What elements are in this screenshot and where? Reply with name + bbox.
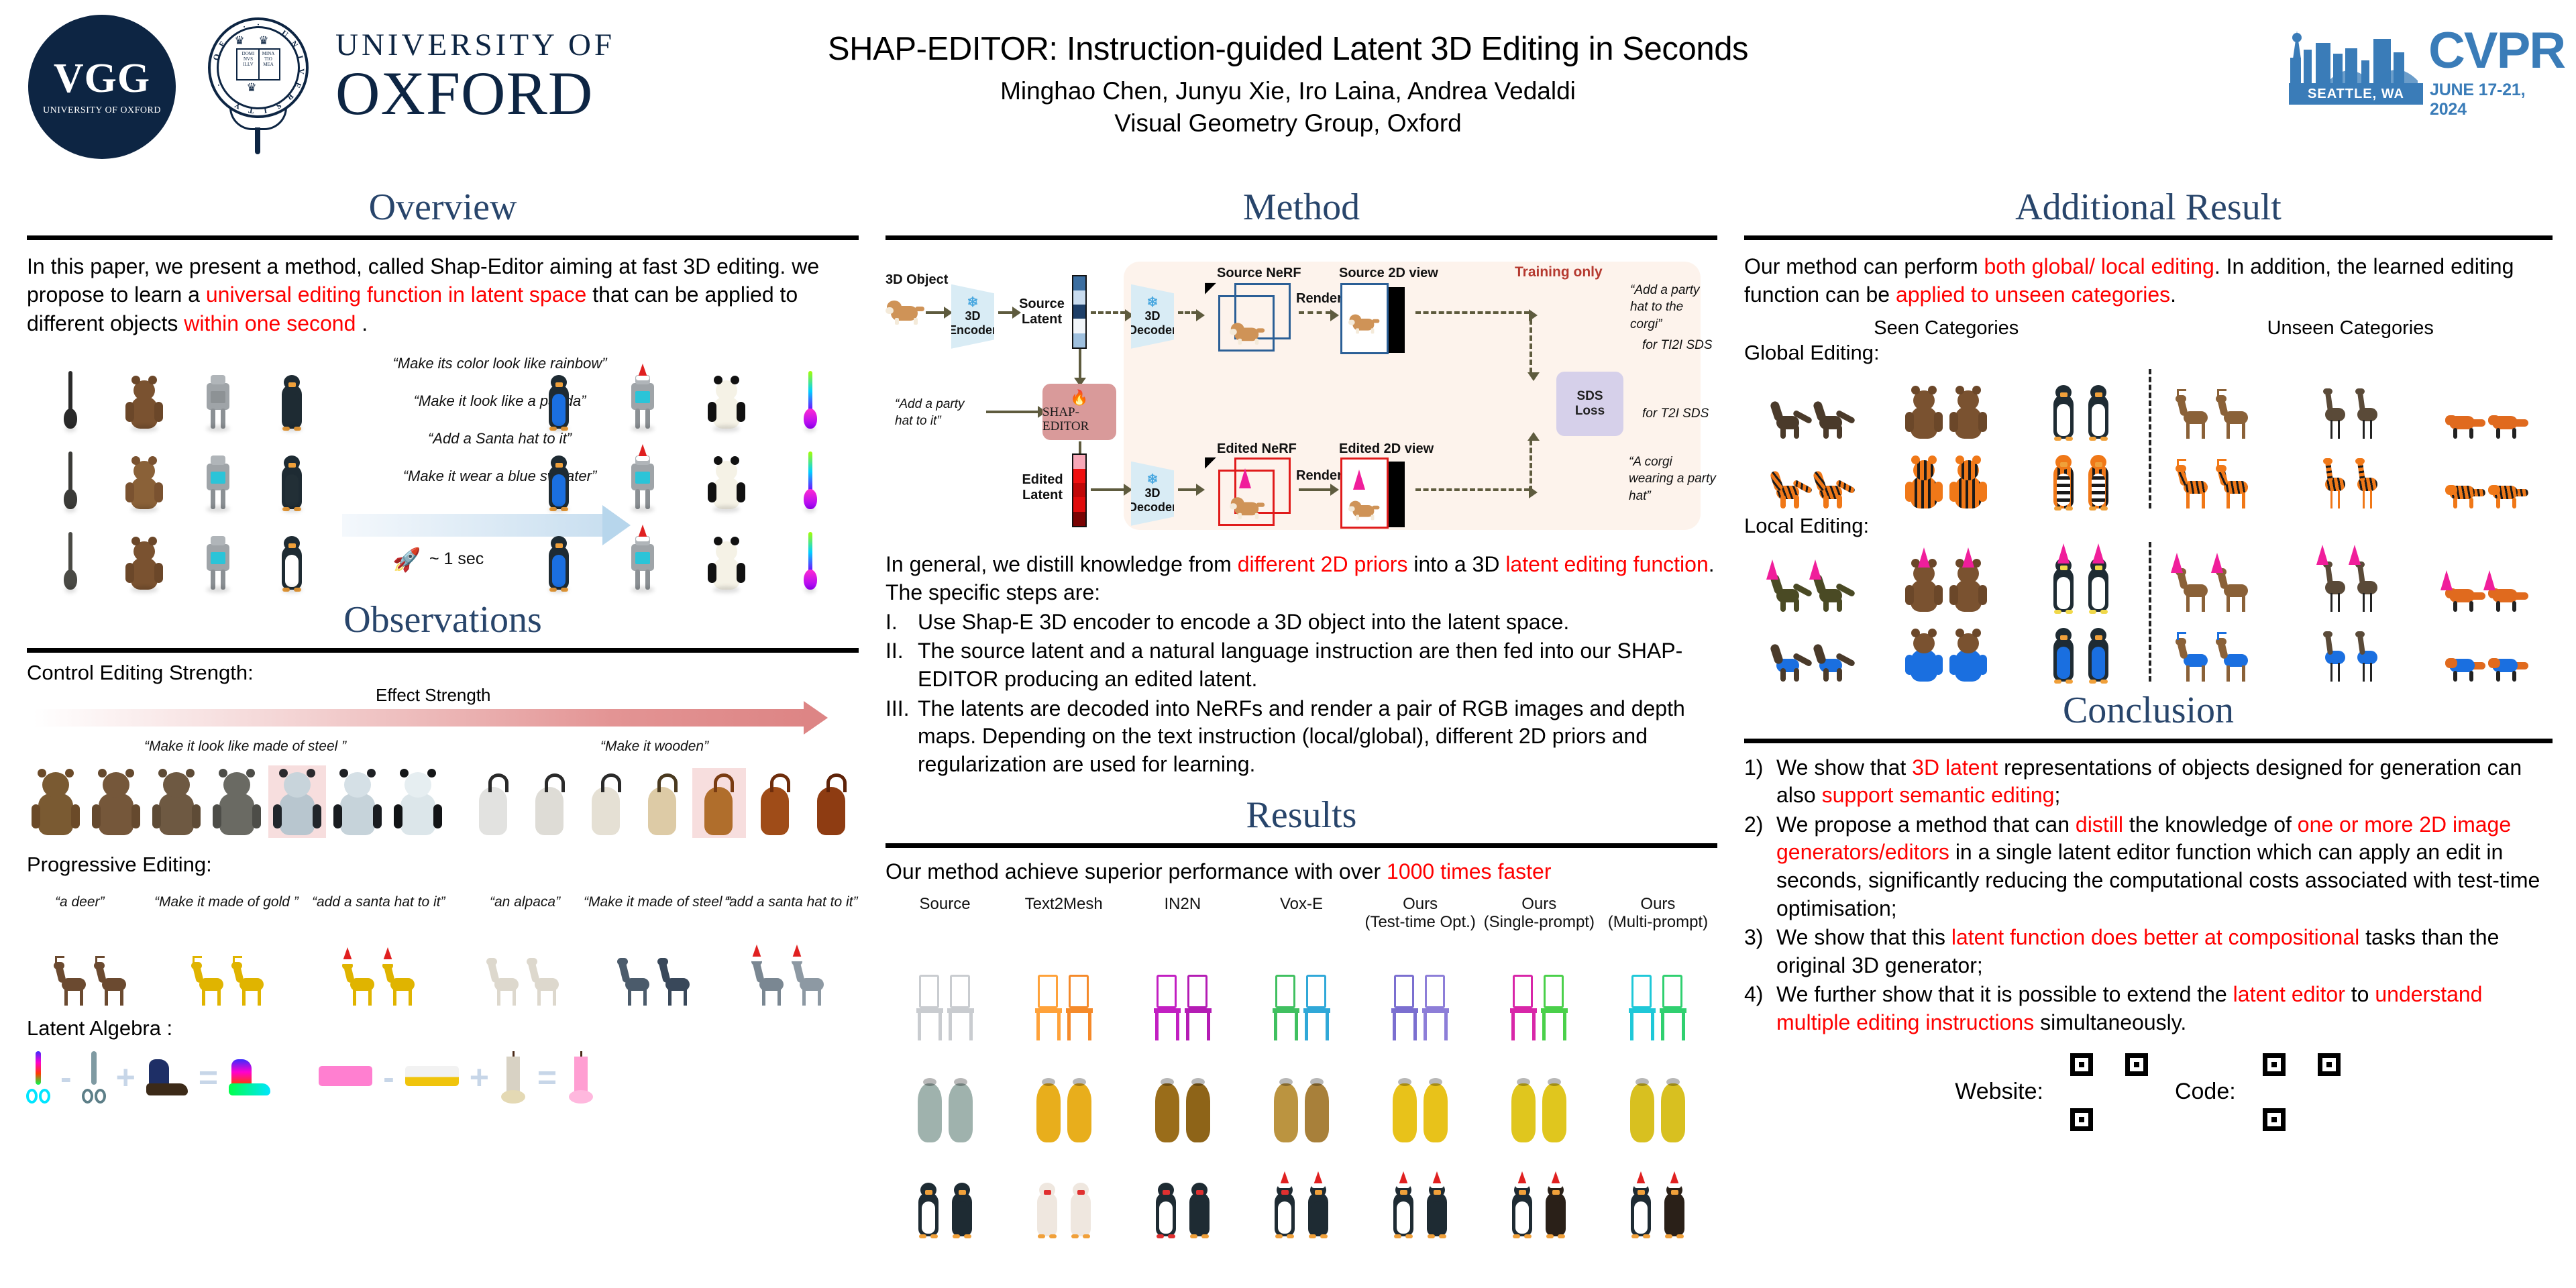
method-steps-list: I. Use Shap-E 3D encoder to encode a 3D … (885, 608, 1717, 779)
corgi-object (1350, 309, 1380, 333)
robot-santa-hat-object (626, 535, 659, 590)
camera-icon: ◤ (1205, 279, 1216, 297)
qr-code-icon[interactable] (2069, 1052, 2149, 1132)
penguin-santa-object (1507, 1181, 1537, 1236)
step-text: Use Shap-E 3D encoder to encode a 3D obj… (918, 608, 1717, 637)
dinosaur-object (1771, 392, 1809, 439)
fox-sweater-object (2488, 643, 2526, 682)
bear-party-hat-object (1949, 559, 1988, 612)
chair-object (1154, 975, 1181, 1040)
alpaca-steel-object (660, 955, 695, 1006)
step-text: The latents are decoded into NeRFs and r… (918, 695, 1717, 779)
bear-object (1949, 386, 1988, 439)
section-title-results: Results (885, 796, 1717, 835)
overview-figure: “Make its color look like rainbow” “Make… (27, 348, 859, 590)
qr-code-icon[interactable] (2261, 1052, 2342, 1132)
prompt-wooden: “Make it wooden” (600, 739, 708, 755)
corgi-object (887, 294, 924, 325)
chair-object (1035, 975, 1062, 1040)
conclusion-text: We further show that it is possible to e… (1776, 981, 2553, 1036)
chair-object (1510, 975, 1537, 1040)
latent-algebra-label: Latent Algebra : (27, 1016, 859, 1040)
dinosaur-party-hat-object (1814, 565, 1851, 612)
bus-yellow-object (405, 1066, 459, 1089)
corgi-object (1350, 495, 1380, 520)
cvpr-wordmark: CVPR (2428, 25, 2565, 76)
crane-object (2353, 385, 2380, 439)
vase-object (916, 1078, 943, 1142)
bus-pink-object (319, 1066, 372, 1089)
sds-loss-label-1: SDS (1576, 389, 1603, 404)
results-row-vase (885, 1040, 1717, 1142)
progressive-prompt: “add a santa hat to it” (724, 894, 857, 910)
guitar-rainbow-object (802, 450, 818, 509)
chair-object (1303, 975, 1330, 1040)
vase-object (1391, 1078, 1418, 1142)
strength-gradient-arrow (34, 709, 805, 727)
dinosaur-sweater-object (1771, 635, 1809, 682)
vase-object (1066, 1078, 1093, 1142)
bear-tiger-object (1904, 456, 1943, 508)
deer-gold-object (194, 955, 229, 1006)
section-title-conclusion: Conclusion (1744, 691, 2553, 731)
conclusion-text: We show that this latent function does b… (1776, 924, 2553, 979)
edited-nerf-cube (1218, 458, 1292, 531)
chair-object (1660, 975, 1686, 1040)
source-latent-bar (1072, 275, 1087, 349)
arrow-down-to-sds (1529, 311, 1532, 373)
step-number: I. (885, 608, 918, 637)
3d-decoder-block-edited: ❄ 3D Decoder (1131, 462, 1174, 526)
candle-pink-object (568, 1051, 594, 1104)
guitar-rainbow-object (802, 370, 818, 429)
sds-loss-block: SDSLoss (1556, 372, 1623, 436)
crane-party-hat-object (2353, 558, 2380, 612)
affiliation: Visual Geometry Group, Oxford (684, 109, 1892, 138)
shap-editor-block: 🔥 SHAP-EDITOR (1042, 384, 1116, 440)
kettle-wooden-object (696, 771, 742, 835)
render-label: Render (1296, 291, 1342, 307)
results-column-header: Vox-E (1242, 896, 1360, 932)
penguin-blue-sweater-object (544, 374, 574, 429)
chair-object (1273, 975, 1299, 1040)
algebra-operator: - (383, 1058, 394, 1097)
algebra-operator: + (470, 1058, 489, 1097)
corgi-object (1231, 317, 1265, 344)
fox-party-hat-object (2488, 573, 2526, 612)
category-headers: Seen Categories Unseen Categories (1744, 317, 2553, 339)
bear-object (125, 537, 164, 590)
fox-party-hat-object (2445, 573, 2483, 612)
oxford-wordmark-bottom: OXFORD (335, 64, 615, 123)
dinosaur-tiger-object (1771, 462, 1809, 508)
conclusion-number: 2) (1744, 811, 1776, 922)
alpaca-steel-object (620, 955, 655, 1006)
penguin-santa-object (1270, 1181, 1299, 1236)
conclusion-item: 2) We propose a method that can distill … (1744, 811, 2553, 922)
conclusion-number: 3) (1744, 924, 1776, 979)
divider-additional-result (1744, 235, 2553, 240)
crane-object (2321, 385, 2348, 439)
dinosaur-sweater-object (1814, 635, 1851, 682)
corgi-object (1231, 491, 1265, 519)
decoder-label-2: Decoder (1128, 500, 1177, 515)
algebra-operator: - (60, 1058, 72, 1097)
local-editing-label: Local Editing: (1744, 514, 2553, 538)
source-2d-view (1340, 283, 1405, 357)
column-middle: Method 3D Object ❄ 3D Encoder Source Lat… (885, 188, 1717, 1236)
snowflake-icon: ❄ (1147, 473, 1159, 486)
algebra-operator: + (116, 1058, 136, 1097)
effect-strength-label: Effect Strength (376, 685, 491, 706)
divider-conclusion (1744, 739, 2553, 743)
progressive-prompt: “a deer” (55, 894, 105, 910)
step-text: The source latent and a natural language… (918, 637, 1717, 693)
deer-gold-object (234, 955, 269, 1006)
oxford-crest-icon: ♛ ♛ ♛ DOMI NVS ILLV MINA TIO MEA · UNIVE… (195, 13, 322, 161)
fox-object (2445, 400, 2483, 439)
penguin-object (2084, 384, 2113, 439)
fox-tiger-object (2445, 470, 2483, 508)
penguin-santa-object (1626, 1181, 1656, 1236)
penguin-tiger-object (2049, 453, 2078, 508)
penguin-sweater-object (2049, 627, 2078, 682)
penguin-party-hat-object (2049, 557, 2078, 612)
vgg-logo: VGG UNIVERSITY OF OXFORD (28, 15, 176, 159)
encoder-label-1: 3D (965, 309, 980, 323)
bear-party-hat-object (1904, 559, 1943, 612)
edited-latent-label: Edited Latent (1017, 472, 1068, 503)
bear-steel-object (272, 768, 322, 835)
guitar-rainbow-object (802, 531, 818, 590)
oxford-wordmark: UNIVERSITY OF OXFORD (335, 27, 615, 123)
edit-instruction-input: “Add a party hat to it” (895, 396, 975, 430)
bear-sweater-object (1949, 629, 1988, 682)
oxford-wordmark-top: UNIVERSITY OF (335, 27, 615, 63)
deer-object (2218, 388, 2253, 439)
arrow-render-edited (1299, 488, 1331, 491)
penguin-object (1032, 1181, 1062, 1236)
robot-object (201, 535, 235, 590)
panda-object (707, 376, 746, 429)
kettle-object (471, 771, 517, 835)
results-column-header: Source (885, 896, 1004, 932)
penguin-object (1151, 1181, 1181, 1236)
section-title-additional-result: Additional Result (1744, 188, 2553, 227)
crane-tiger-object (2321, 455, 2348, 508)
penguin-object (914, 1181, 943, 1236)
overview-edited-grid (517, 348, 852, 590)
panda-object (707, 457, 746, 509)
seen-categories-label: Seen Categories (1744, 317, 2149, 339)
bear-object (152, 768, 201, 835)
bear-steel-object (393, 768, 443, 835)
deer-sweater-object (2218, 631, 2253, 682)
arrow-render-source (1299, 311, 1331, 314)
bear-object (91, 768, 141, 835)
kettle-object (527, 771, 573, 835)
conclusion-text: We propose a method that can distill the… (1776, 811, 2553, 922)
results-grid (885, 938, 1717, 1236)
vgg-logo-text: VGG (54, 58, 150, 99)
method-intro-paragraph: In general, we distill knowledge from di… (885, 550, 1717, 607)
results-column-header: Text2Mesh (1004, 896, 1123, 932)
penguin-blue-sweater-object (544, 535, 574, 590)
vase-object (1303, 1078, 1330, 1142)
fox-object (2488, 400, 2526, 439)
column-right: Additional Result Our method can perform… (1744, 188, 2553, 1132)
algebra-operator: = (199, 1058, 218, 1097)
crane-sweater-object (2353, 628, 2380, 682)
seen-unseen-divider (2149, 369, 2151, 508)
arrow-to-latent (998, 311, 1013, 314)
source-nerf-cube (1218, 283, 1292, 357)
bear-sweater-object (1904, 629, 1943, 682)
alpaca-object (529, 955, 564, 1006)
overview-source-grid (34, 348, 329, 590)
poster-header: VGG UNIVERSITY OF OXFORD ♛ ♛ ♛ DOMI NVS … (0, 0, 2576, 181)
results-column-header: IN2N (1123, 896, 1242, 932)
penguin-object (1185, 1181, 1214, 1236)
guitar-object (62, 531, 78, 590)
chair-object (1629, 975, 1656, 1040)
scissors-rainbow-object (27, 1051, 50, 1104)
shap-editor-label: SHAP-EDITOR (1042, 406, 1116, 434)
bear-steel-object (333, 768, 382, 835)
vase-object (1273, 1078, 1299, 1142)
alpaca-steel-santa-object (754, 955, 789, 1006)
conclusion-text: We show that 3D latent representations o… (1776, 754, 2553, 810)
render-label: Render (1296, 468, 1342, 484)
bear-tiger-object (1949, 456, 1988, 508)
sds-loss-label-2: Loss (1575, 404, 1605, 419)
results-row-chair (885, 938, 1717, 1040)
scissors-object (83, 1051, 105, 1104)
progressive-editing-label: Progressive Editing: (27, 853, 859, 877)
unseen-categories-label: Unseen Categories (2149, 317, 2553, 339)
section-title-overview: Overview (27, 188, 859, 227)
vgg-logo-subtext: UNIVERSITY OF OXFORD (43, 105, 161, 116)
poster-root: VGG UNIVERSITY OF OXFORD ♛ ♛ ♛ DOMI NVS … (0, 0, 2576, 1288)
penguin-object (277, 535, 307, 590)
effect-strength-axis: Effect Strength (27, 690, 859, 713)
rocket-icon: 🚀 (392, 547, 421, 574)
additional-result-paragraph: Our method can perform both global/ loca… (1744, 252, 2553, 309)
dinosaur-tiger-object (1814, 462, 1851, 508)
qr-code-row: Website: Code: (1744, 1052, 2553, 1132)
fox-tiger-object (2488, 470, 2526, 508)
overview-paragraph: In this paper, we present a method, call… (27, 252, 859, 338)
conclusion-list: 1) We show that 3D latent representation… (1744, 754, 2553, 1037)
ti2i-note: for TI2I SDS (1642, 337, 1716, 354)
prompt-steel: “Make it look like made of steel ” (144, 739, 346, 755)
crane-tiger-object (2353, 455, 2380, 508)
bear-object (125, 376, 164, 429)
vase-object (1660, 1078, 1686, 1142)
method-diagram: 3D Object ❄ 3D Encoder Source Latent ❄ 3… (885, 252, 1717, 547)
fox-sweater-object (2445, 643, 2483, 682)
results-column-header: Ours(Single-prompt) (1480, 896, 1599, 932)
crane-sweater-object (2321, 628, 2348, 682)
vase-object (947, 1078, 974, 1142)
global-editing-grid (1744, 369, 2553, 508)
latent-algebra-row: - + = - + = (27, 1051, 859, 1104)
method-step: III. The latents are decoded into NeRFs … (885, 695, 1717, 779)
highlighted-sample (692, 768, 746, 838)
deer-object (2178, 388, 2213, 439)
3d-decoder-block-source: ❄ 3D Decoder (1131, 284, 1174, 349)
robot-santa-hat-object (626, 454, 659, 509)
arrow-latent-to-editor (1079, 349, 1081, 378)
conclusion-number: 4) (1744, 981, 1776, 1036)
kettle-wooden-object (809, 771, 855, 835)
penguin-santa-object (1541, 1181, 1570, 1236)
author-list: Minghao Chen, Junyu Xie, Iro Laina, Andr… (684, 77, 1892, 105)
local-editing-grid (1744, 542, 2553, 682)
shoe-object (146, 1059, 188, 1095)
arrow-instruction-to-editor (986, 411, 1038, 413)
robot-object (201, 454, 235, 509)
shoe-rainbow-object (229, 1059, 270, 1095)
deer-sweater-object (2178, 631, 2213, 682)
training-only-label: Training only (1515, 264, 1603, 280)
progressive-prompt: “an alpaca” (490, 894, 560, 910)
divider-method (885, 235, 1717, 240)
candle-object (500, 1051, 527, 1104)
flame-icon: 🔥 (1070, 390, 1088, 406)
snowflake-icon: ❄ (967, 296, 979, 309)
section-title-method: Method (885, 188, 1717, 227)
arrow-latent-to-decoder (1091, 311, 1126, 314)
kettle-wooden-object (753, 771, 798, 835)
party-hat-icon (1353, 470, 1365, 490)
encoder-label-2: Encoder (949, 323, 997, 337)
cvpr-logo: SEATTLE, WA CVPR JUNE 17-21, 2024 (2289, 19, 2551, 119)
arrow-decoder-to-edited-nerf (1178, 488, 1197, 491)
website-label: Website: (1955, 1079, 2043, 1105)
conclusion-number: 1) (1744, 754, 1776, 810)
results-caption: Our method achieve superior performance … (885, 857, 1717, 886)
guitar-object (62, 370, 78, 429)
bear-object (125, 457, 164, 509)
kettle-object (640, 771, 686, 835)
penguin-santa-object (1422, 1181, 1452, 1236)
method-step: II. The source latent and a natural lang… (885, 637, 1717, 693)
robot-object (201, 374, 235, 429)
title-block: SHAP-EDITOR: Instruction-guided Latent 3… (684, 30, 1892, 138)
section-title-observations: Observations (27, 600, 859, 640)
chair-object (1066, 975, 1093, 1040)
dinosaur-object (1814, 392, 1851, 439)
arrow-up-to-sds (1529, 440, 1532, 491)
cvpr-date-label: JUNE 17-21, 2024 (2430, 80, 2551, 119)
global-editing-label: Global Editing: (1744, 341, 2553, 365)
results-column-header: Ours(Test-time Opt.) (1361, 896, 1480, 932)
deer-tiger-object (2218, 458, 2253, 508)
progressive-prompt: “Make it made of steel ” (584, 894, 731, 910)
penguin-tiger-object (2084, 453, 2113, 508)
edited-nerf-label: Edited NeRF (1217, 441, 1297, 457)
page-title: SHAP-EDITOR: Instruction-guided Latent 3… (684, 30, 1892, 68)
algebra-operator: = (537, 1058, 557, 1097)
arrow-edited-latent-to-decoder (1091, 488, 1124, 491)
snowflake-icon: ❄ (1147, 296, 1159, 309)
decoder-label-1: 3D (1144, 486, 1160, 500)
results-column-headers: Source Text2Mesh IN2N Vox-E Ours(Test-ti… (885, 896, 1717, 932)
edited-latent-bar (1072, 453, 1087, 527)
source-latent-label: Source Latent (1017, 297, 1067, 327)
decoder-label-2: Decoder (1128, 323, 1177, 337)
kettle-object (584, 771, 629, 835)
chair-object (947, 975, 974, 1040)
deer-gold-santa-object (385, 955, 420, 1006)
penguin-santa-object (1660, 1181, 1689, 1236)
progressive-editing-strip (27, 918, 859, 1006)
dinosaur-party-hat-object (1771, 565, 1809, 612)
arrow-to-encoder (926, 311, 945, 314)
bear-object (1904, 386, 1943, 439)
conclusion-item: 1) We show that 3D latent representation… (1744, 754, 2553, 810)
divider-overview (27, 235, 859, 240)
deer-party-hat-object (2178, 561, 2213, 612)
penguin-blue-sweater-object (544, 454, 574, 509)
penguin-object (1066, 1181, 1095, 1236)
method-step: I. Use Shap-E 3D encoder to encode a 3D … (885, 608, 1717, 637)
camera-icon: ◤ (1205, 453, 1216, 471)
t2i-caption: “A corgi wearing a party hat” (1629, 453, 1716, 505)
progressive-prompt: “Make it made of gold ” (154, 894, 299, 910)
alpaca-steel-santa-object (794, 955, 829, 1006)
penguin-object (2049, 384, 2078, 439)
source-2d-view-label: Source 2D view (1339, 266, 1438, 281)
column-left: Overview In this paper, we present a met… (27, 188, 859, 1104)
diagram-3d-object-label: 3D Object (885, 272, 948, 288)
source-nerf-label: Source NeRF (1217, 266, 1301, 281)
vase-object (1422, 1078, 1449, 1142)
crane-party-hat-object (2321, 558, 2348, 612)
panda-object (707, 537, 746, 590)
step-number: III. (885, 695, 918, 779)
deer-tiger-object (2178, 458, 2213, 508)
vase-object (1629, 1078, 1656, 1142)
arrow-edited-to-sds (1415, 488, 1529, 491)
chair-object (1185, 975, 1212, 1040)
deer-object (56, 955, 91, 1006)
edited-2d-view (1340, 458, 1405, 531)
conclusion-item: 4) We further show that it is possible t… (1744, 981, 2553, 1036)
deer-gold-santa-object (345, 955, 380, 1006)
penguin-sweater-object (2084, 627, 2113, 682)
ti2i-caption: “Add a party hat to the corgi” (1630, 282, 1717, 333)
chair-object (1391, 975, 1418, 1040)
decoder-label-1: 3D (1144, 309, 1160, 323)
t2i-note: for T2I SDS (1642, 405, 1716, 423)
alpaca-object (489, 955, 524, 1006)
seen-unseen-divider (2149, 542, 2151, 682)
arrow-decoder-to-nerf (1178, 311, 1197, 314)
chair-object (916, 975, 943, 1040)
highlighted-sample (268, 765, 326, 838)
progressive-prompt: “add a santa hat to it” (312, 894, 445, 910)
vase-object (1541, 1078, 1568, 1142)
robot-santa-hat-object (626, 374, 659, 429)
vase-object (1154, 1078, 1181, 1142)
penguin-party-hat-object (2084, 557, 2113, 612)
results-column-header: Ours(Multi-prompt) (1599, 896, 1717, 932)
3d-encoder-block: ❄ 3D Encoder (951, 284, 994, 349)
deer-party-hat-object (2218, 561, 2253, 612)
code-label: Code: (2175, 1079, 2236, 1105)
